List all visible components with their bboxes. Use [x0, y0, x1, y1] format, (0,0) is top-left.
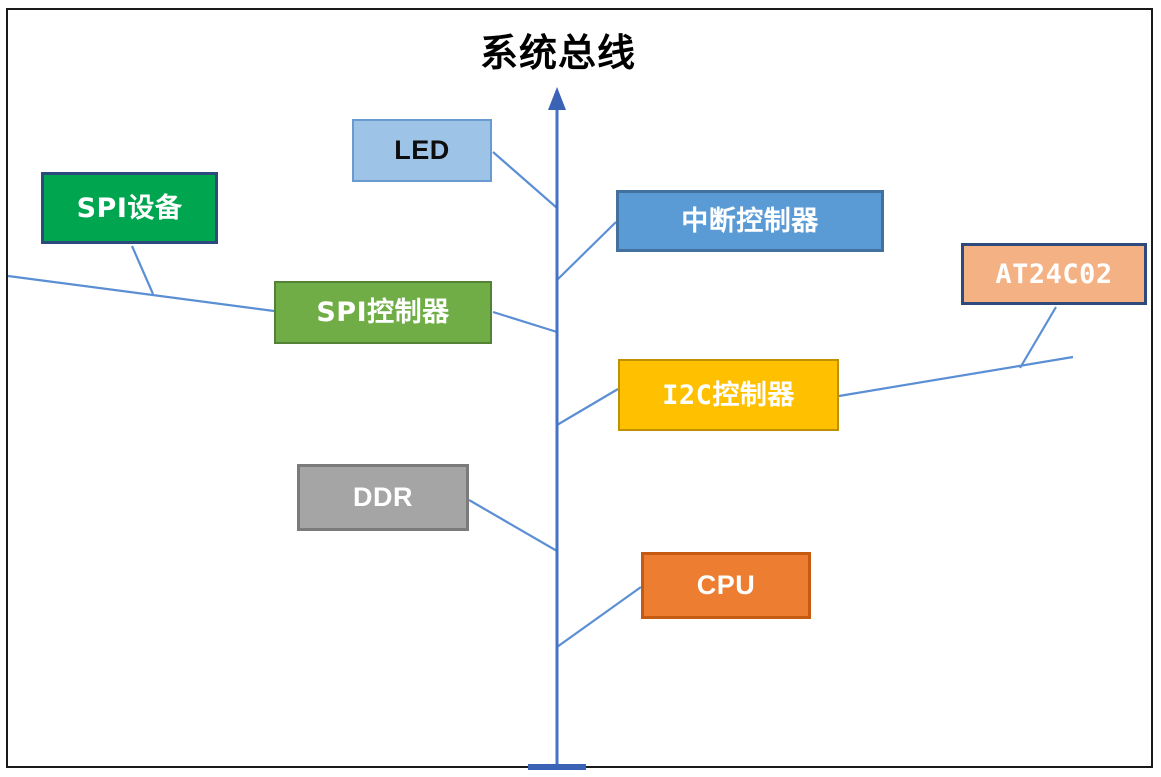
- node-label-led: LED: [394, 137, 450, 164]
- diagram-canvas: 系统总线 SPI设备 LED SPI控制器 中断控制器 I2C控制器 AT24C…: [0, 0, 1161, 777]
- node-label-at24c02: AT24C02: [995, 261, 1112, 288]
- node-label-interrupt-controller: 中断控制器: [681, 208, 819, 235]
- node-i2c-controller[interactable]: I2C控制器: [618, 359, 839, 431]
- node-ddr[interactable]: DDR: [297, 464, 469, 531]
- page-title: 系统总线: [430, 22, 686, 77]
- node-label-cpu: CPU: [697, 572, 756, 599]
- node-led[interactable]: LED: [352, 119, 492, 182]
- node-cpu[interactable]: CPU: [641, 552, 811, 619]
- node-label-spi-controller: SPI控制器: [316, 299, 449, 326]
- node-label-ddr: DDR: [353, 484, 413, 511]
- page-frame: [6, 8, 1153, 768]
- node-label-i2c-controller: I2C控制器: [662, 382, 795, 409]
- node-label-spi-device: SPI设备: [77, 195, 183, 222]
- node-interrupt-controller[interactable]: 中断控制器: [616, 190, 884, 252]
- node-spi-device[interactable]: SPI设备: [41, 172, 218, 244]
- node-spi-controller[interactable]: SPI控制器: [274, 281, 492, 344]
- node-at24c02[interactable]: AT24C02: [961, 243, 1147, 305]
